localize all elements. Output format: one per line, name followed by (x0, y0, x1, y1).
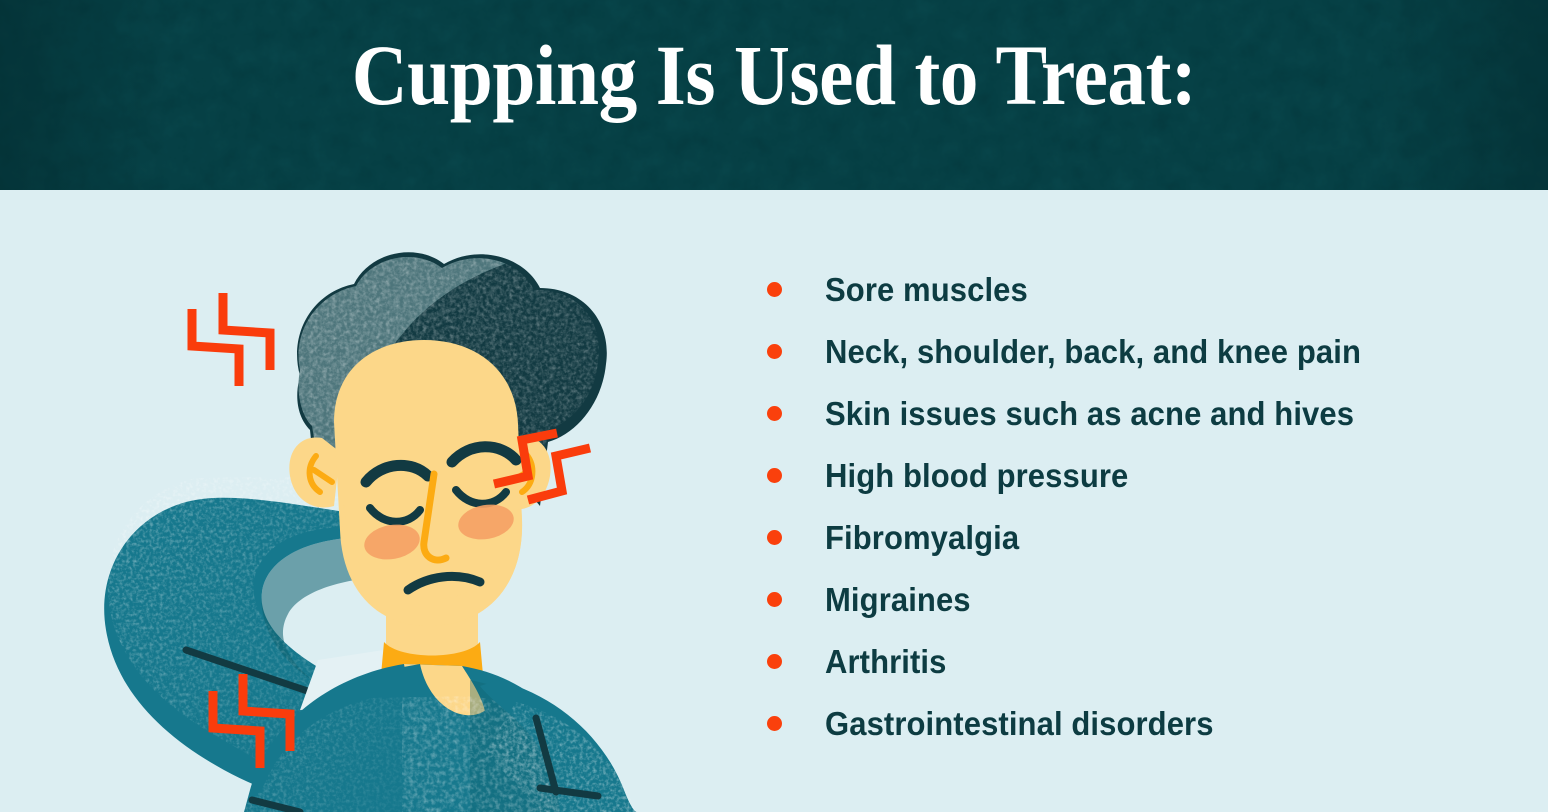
bullet-icon (767, 282, 782, 297)
infographic-root: Cupping Is Used to Treat: (0, 0, 1548, 812)
bullet-icon (767, 468, 782, 483)
bullet-icon (767, 406, 782, 421)
list-item: Gastrointestinal disorders (762, 692, 1502, 754)
header-bar: Cupping Is Used to Treat: (0, 0, 1548, 190)
list-item: Arthritis (762, 630, 1502, 692)
list-item-label: Skin issues such as acne and hives (825, 397, 1354, 430)
list-item: Migraines (762, 568, 1502, 630)
treatment-list: Sore muscles Neck, shoulder, back, and k… (762, 258, 1502, 754)
list-item: Fibromyalgia (762, 506, 1502, 568)
pain-zigzag-upper-left (192, 293, 270, 386)
list-item-label: Arthritis (825, 645, 946, 678)
bullet-icon (767, 654, 782, 669)
list-item-label: Fibromyalgia (825, 521, 1019, 554)
list-item-label: Sore muscles (825, 273, 1028, 306)
list-item-label: High blood pressure (825, 459, 1128, 492)
list-item-label: Neck, shoulder, back, and knee pain (825, 335, 1361, 368)
page-title: Cupping Is Used to Treat: (77, 32, 1470, 118)
man-with-neck-pain-illustration (0, 190, 780, 812)
bullet-icon (767, 344, 782, 359)
list-item: High blood pressure (762, 444, 1502, 506)
bullet-icon (767, 530, 782, 545)
list-item: Neck, shoulder, back, and knee pain (762, 320, 1502, 382)
list-item-label: Migraines (825, 583, 971, 616)
list-item: Sore muscles (762, 258, 1502, 320)
bullet-icon (767, 716, 782, 731)
bullet-icon (767, 592, 782, 607)
list-item: Skin issues such as acne and hives (762, 382, 1502, 444)
list-item-label: Gastrointestinal disorders (825, 707, 1214, 740)
